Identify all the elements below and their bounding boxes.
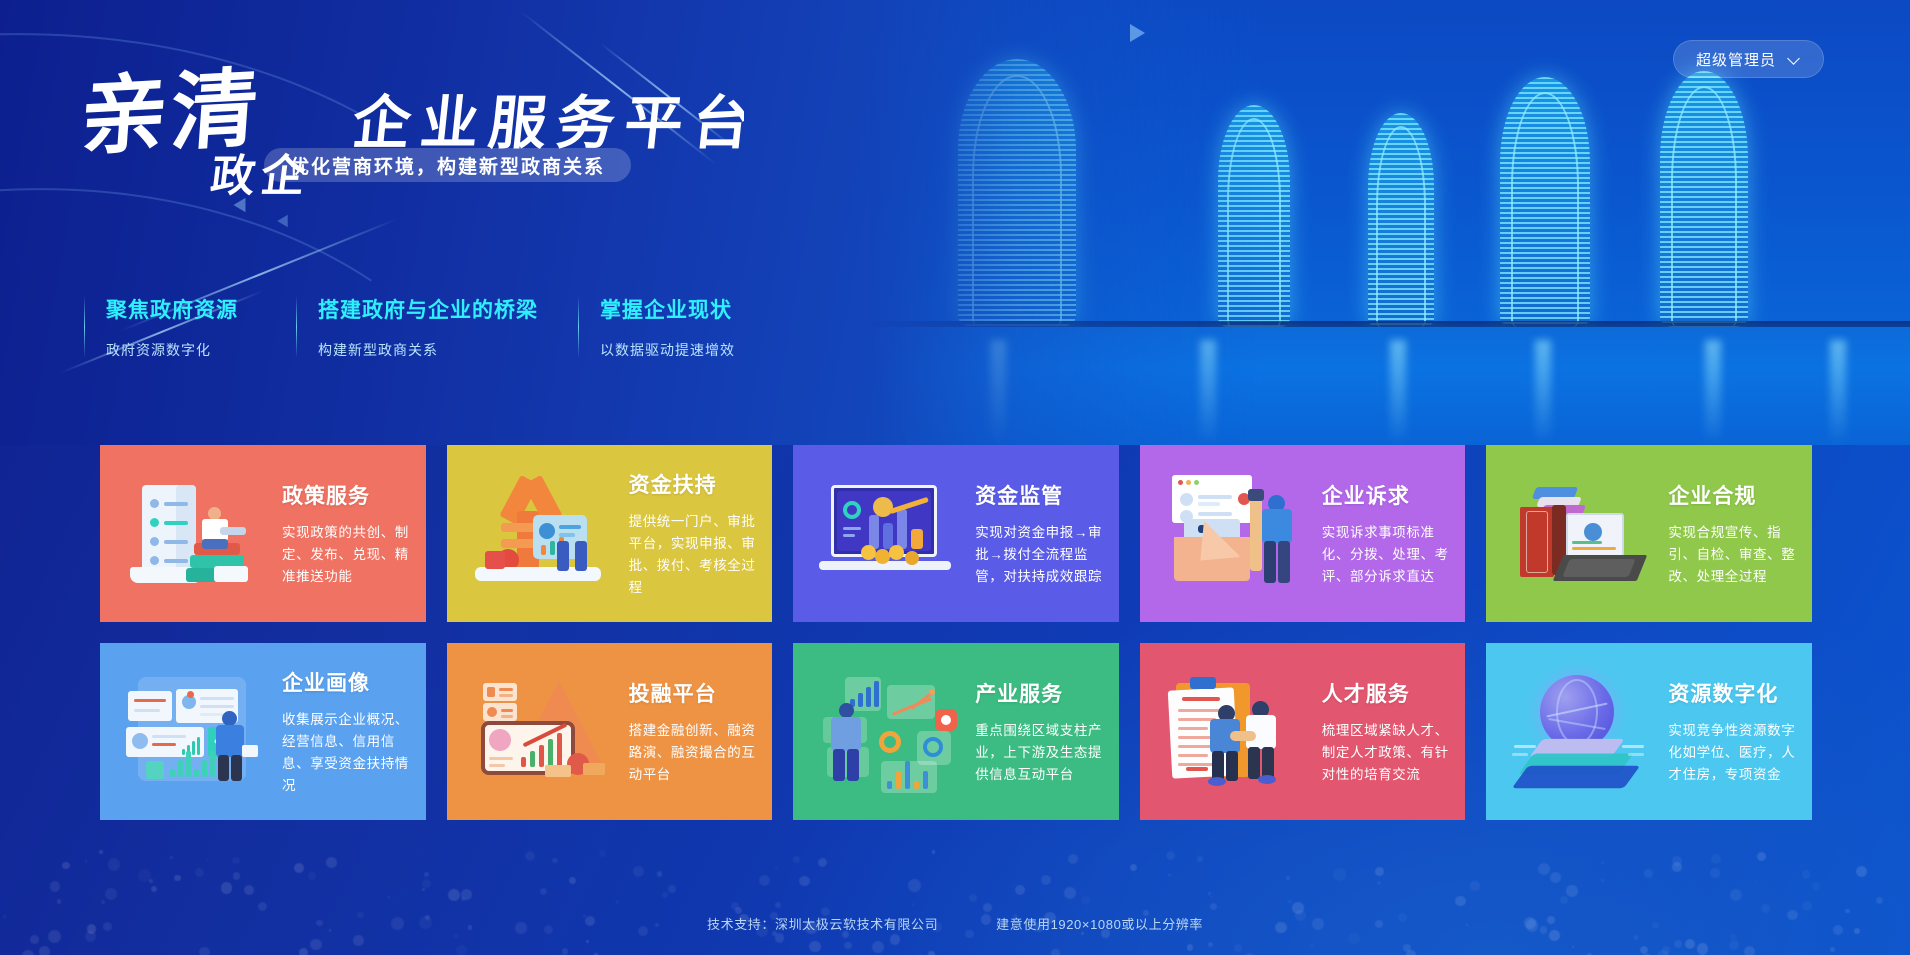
user-role-label: 超级管理员 [1696,49,1776,70]
service-card-title: 资金监管 [975,480,1103,510]
art-shape [489,729,511,751]
art-shape [874,681,879,707]
art-shape [132,733,148,749]
highlight-list: 聚焦政府资源政府资源数字化搭建政府与企业的桥梁构建新型政商关系掌握企业现状以数据… [84,294,735,360]
service-card-4[interactable]: 企业诉求实现诉求事项标准化、分拨、处理、考评、部分诉求直达 [1140,445,1466,622]
service-card-text: 产业服务重点围绕区域支柱产业，上下游及生态提供信息互动平台 [967,678,1119,786]
tower-3 [1368,113,1434,327]
art-shape [521,757,526,767]
art-shape [1248,747,1260,779]
profile-dashboard-icon [124,669,274,794]
art-shape [1180,493,1193,506]
service-card-title: 企业诉求 [1322,480,1450,510]
art-shape [905,761,910,789]
art-shape [879,731,901,753]
art-shape [487,687,495,697]
highlight-item-2: 搭建政府与企业的桥梁构建新型政商关系 [296,294,578,360]
art-shape [1186,767,1208,771]
tower-5 [1660,71,1748,327]
service-card-text: 企业画像收集展示企业概况、经营信息、信用信息、享受资金扶持情况 [274,667,426,797]
highlight-subtitle: 以数据驱动提速增效 [600,340,735,360]
art-shape [152,743,176,746]
art-shape [197,737,200,755]
service-card-description: 实现合规宣传、指引、自检、审查、整改、处理全过程 [1668,522,1796,588]
art-shape [164,521,188,525]
service-card-title: 资金扶持 [629,469,757,499]
art-shape [1250,495,1262,571]
art-shape [1622,745,1644,748]
art-shape [1563,559,1636,577]
art-shape [530,751,535,767]
art-shape [557,541,569,571]
art-shape [911,529,923,549]
service-card-5[interactable]: 企业合规实现合规宣传、指引、自检、审查、整改、处理全过程 [1486,445,1812,622]
platform-title-text: 企业服务平台 [349,88,744,157]
art-shape [1512,766,1640,788]
user-account-button[interactable]: 超级管理员 [1673,40,1824,78]
policy-document-icon [124,471,274,596]
art-shape [575,541,587,571]
art-shape [1226,751,1238,781]
art-shape [858,693,863,707]
chevron-down-icon [1789,53,1801,65]
service-card-text: 投融平台搭建金融创新、融资路演、融资撮合的互动平台 [621,678,773,786]
art-shape [1264,541,1276,583]
page-footer: 技术支持：深圳太极云软技术有限公司 建意使用1920×1080或以上分辨率 [0,914,1910,933]
service-card-title: 人才服务 [1322,678,1450,708]
art-shape [220,527,246,535]
art-shape [839,703,854,718]
art-shape [499,694,513,697]
art-shape [889,545,904,560]
art-shape [1198,512,1232,516]
art-shape [887,781,892,789]
service-card-8[interactable]: 产业服务重点围绕区域支柱产业，上下游及生态提供信息互动平台 [793,643,1119,820]
art-shape [182,749,185,755]
art-shape [923,771,928,789]
highlight-item-1: 聚焦政府资源政府资源数字化 [84,294,296,360]
highlight-title: 聚焦政府资源 [106,294,296,324]
footer-resolution-text: 建意使用1920×1080或以上分辨率 [996,914,1203,933]
art-shape [1186,480,1191,485]
service-card-text: 资源数字化实现竞争性资源数字化如学位、医疗，人才住房，专项资金 [1660,678,1812,786]
art-shape [218,755,229,781]
service-card-text: 人才服务梳理区域紧缺人才、制定人才政策、有针对性的培育交流 [1314,678,1466,786]
service-card-text: 企业合规实现合规宣传、指引、自检、审查、整改、处理全过程 [1660,480,1812,588]
service-card-9[interactable]: 人才服务梳理区域紧缺人才、制定人才政策、有针对性的培育交流 [1140,643,1466,820]
art-shape [202,539,228,549]
art-shape [202,760,207,777]
art-shape [539,745,544,767]
service-card-7[interactable]: 投融平台搭建金融创新、融资路演、融资撮合的互动平台 [447,643,773,820]
service-card-text: 资金监管实现对资金申报→审批→拨付全流程监管，对扶持成效跟踪 [967,480,1119,588]
art-shape [485,551,505,569]
art-shape [1512,753,1528,756]
art-shape [210,751,215,777]
art-shape [170,769,175,777]
art-shape [583,763,605,775]
art-shape [200,713,224,716]
art-shape [1198,502,1220,506]
art-shape [847,749,859,781]
art-shape [1526,511,1548,573]
art-shape [1178,480,1183,485]
art-shape [548,739,553,767]
art-shape [200,697,234,700]
art-shape [896,771,901,789]
art-shape [487,707,497,717]
art-shape [150,537,159,546]
art-shape [833,749,845,781]
art-shape [1194,480,1199,485]
service-card-6[interactable]: 企业画像收集展示企业概况、经营信息、信用信息、享受资金扶持情况 [100,643,426,820]
highlight-title: 掌握企业现状 [600,294,735,324]
service-card-title: 投融平台 [629,678,757,708]
art-shape [1198,495,1232,499]
art-shape [1248,489,1264,501]
art-shape [187,691,194,698]
industry-analytics-icon [817,669,967,794]
hero-subtitle-pill: 优化营商环境，构建新型政商关系 [264,148,631,182]
art-shape [501,709,513,712]
hero-banner: 超级管理员 亲清 政企 企业服务平台 优化营商环境，构建新型政商关系 聚焦政府资… [0,0,1910,445]
art-shape [200,705,234,708]
art-shape [914,781,919,789]
service-card-description: 收集展示企业概况、经营信息、信用信息、享受资金扶持情况 [282,709,410,797]
art-shape [214,566,248,582]
art-shape [192,741,195,755]
art-shape [843,534,855,537]
tower-1 [958,59,1076,327]
service-card-description: 实现对资金申报→审批→拨付全流程监管，对扶持成效跟踪 [975,522,1103,588]
handshake-clipboard-icon [1164,669,1314,794]
service-card-title: 政策服务 [282,480,410,510]
art-shape [150,556,159,565]
highlight-subtitle: 政府资源数字化 [106,340,296,360]
yuan-funding-icon [471,471,621,596]
art-shape [557,733,562,767]
laptop-monitor-icon [817,471,967,596]
art-shape [134,699,166,702]
art-shape [1178,727,1208,730]
art-shape [231,755,242,781]
art-shape [164,502,188,506]
art-shape [1208,777,1226,786]
service-card-1[interactable]: 政策服务实现政策的共创、制定、发布、兑现、精准推送功能 [100,445,426,622]
art-shape [1572,541,1602,544]
service-card-description: 实现竞争性资源数字化如学位、医疗，人才住房，专项资金 [1668,720,1796,786]
art-shape [559,525,581,529]
service-card-description: 搭建金融创新、融资路演、融资撮合的互动平台 [629,720,757,786]
books-laptop-icon [1510,471,1660,596]
art-shape [1628,753,1644,756]
art-shape [1514,745,1536,748]
art-shape [861,545,876,560]
art-shape [550,541,555,555]
art-shape [1278,541,1290,583]
service-card-description: 实现诉求事项标准化、分拨、处理、考评、部分诉求直达 [1322,522,1450,588]
art-shape [134,709,160,712]
water-reflection [870,327,1910,445]
service-card-text: 政策服务实现政策的共创、制定、发布、兑现、精准推送功能 [274,480,426,588]
service-card-title: 企业合规 [1668,480,1796,510]
service-card-title: 企业画像 [282,667,410,697]
art-shape [869,515,879,549]
globe-layers-icon [1510,669,1660,794]
art-shape [242,745,258,757]
art-shape [1190,677,1216,689]
tower-4 [1500,77,1590,327]
footer-support-text: 技术支持：深圳太极云软技术有限公司 [707,914,938,933]
chart-growth-icon [471,669,621,794]
hero-subtitle-text: 优化营商环境，构建新型政商关系 [290,152,605,179]
tower-2 [1218,105,1290,327]
art-shape [1182,697,1220,701]
art-shape [1258,775,1276,784]
service-card-description: 提供统一门户、审批平台，实现申报、审批、拨付、考核全过程 [629,511,757,599]
art-shape [164,559,188,563]
brand-logo-svg: 亲清 政企 企业服务平台 [84,55,744,205]
art-shape [164,540,188,544]
art-shape [843,527,861,530]
art-shape [186,751,191,777]
art-shape [1230,731,1256,741]
art-shape [831,717,861,751]
service-card-text: 资金扶持提供统一门户、审批平台，实现申报、审批、拨付、考核全过程 [621,469,773,599]
art-shape [178,760,183,777]
service-card-3[interactable]: 资金监管实现对资金申报→审批→拨付全流程监管，对扶持成效跟踪 [793,445,1119,622]
highlight-subtitle: 构建新型政商关系 [318,340,578,360]
art-shape [866,687,871,707]
art-shape [545,765,571,777]
art-shape [216,725,244,757]
service-card-10[interactable]: 资源数字化实现竞争性资源数字化如学位、医疗，人才住房，专项资金 [1486,643,1812,820]
art-shape [489,764,505,767]
art-shape [128,691,172,721]
art-shape [539,523,555,539]
art-shape [541,545,546,555]
highlight-item-3: 掌握企业现状以数据驱动提速增效 [578,294,735,360]
art-shape [222,711,237,726]
art-shape [146,761,164,779]
art-shape [1262,509,1292,543]
art-shape [1178,709,1224,712]
service-card-2[interactable]: 资金扶持提供统一门户、审批平台，实现申报、审批、拨付、考核全过程 [447,445,773,622]
art-shape [150,499,159,508]
service-card-grid: 政策服务实现政策的共创、制定、发布、兑现、精准推送功能资金扶持提供统一门户、审批… [100,445,1812,820]
art-shape [489,757,513,760]
service-card-title: 产业服务 [975,678,1103,708]
art-shape [152,735,186,738]
art-shape [499,688,513,691]
service-card-title: 资源数字化 [1668,678,1796,708]
service-card-description: 重点围绕区域支柱产业，上下游及生态提供信息互动平台 [975,720,1103,786]
art-shape [150,518,159,527]
art-shape [194,769,199,777]
service-card-description: 实现政策的共创、制定、发布、兑现、精准推送功能 [282,522,410,588]
service-card-description: 梳理区域紧缺人才、制定人才政策、有针对性的培育交流 [1322,720,1450,786]
art-shape [1178,754,1208,757]
page-root: 超级管理员 亲清 政企 企业服务平台 优化营商环境，构建新型政商关系 聚焦政府资… [0,0,1910,955]
art-shape [897,509,907,549]
service-card-text: 企业诉求实现诉求事项标准化、分拨、处理、考评、部分诉求直达 [1314,480,1466,588]
highlight-title: 搭建政府与企业的桥梁 [318,294,578,324]
envelope-pen-icon [1164,471,1314,596]
art-shape [1572,547,1616,550]
art-shape [501,715,513,718]
